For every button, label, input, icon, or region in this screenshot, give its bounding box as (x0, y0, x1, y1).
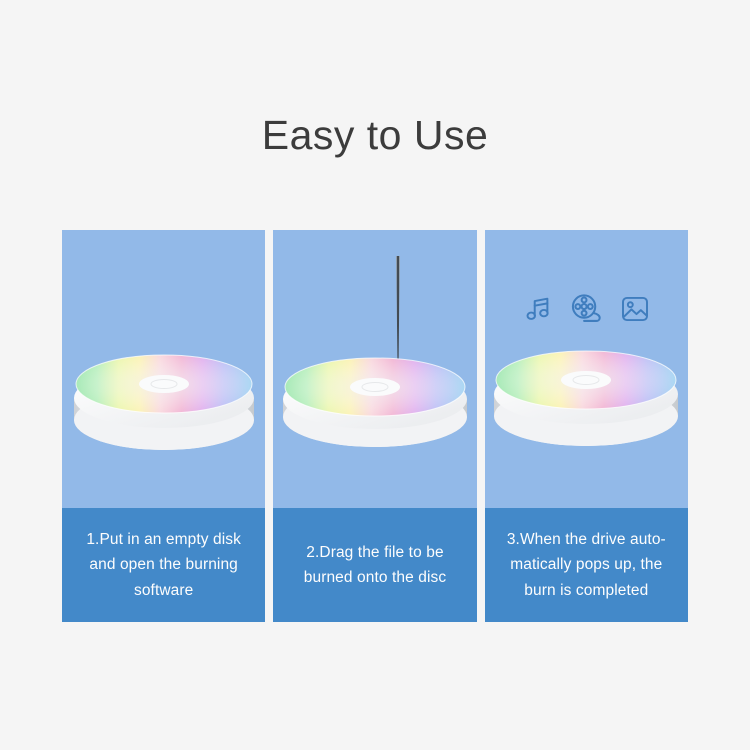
step-panel-2: 2.Drag the file to be burned onto the di… (273, 230, 476, 622)
step-2-caption-text: 2.Drag the file to be burned onto the di… (304, 540, 446, 590)
cd-disc-2 (278, 343, 472, 451)
step-1-caption: 1.Put in an empty disk and open the burn… (62, 508, 265, 622)
step-3-caption-text: 3.When the drive auto- matically pops up… (507, 527, 666, 602)
music-note-icon (523, 294, 553, 324)
step-1-caption-text: 1.Put in an empty disk and open the burn… (86, 527, 241, 602)
cd-disc-1 (69, 336, 259, 448)
cd-disc-3 (489, 334, 683, 448)
steps-panel-group: 1.Put in an empty disk and open the burn… (62, 230, 688, 622)
step-1-illustration (62, 230, 265, 508)
page-title: Easy to Use (0, 113, 750, 158)
step-panel-1: 1.Put in an empty disk and open the burn… (62, 230, 265, 622)
media-type-icon-row (485, 292, 688, 325)
step-3-illustration (485, 230, 688, 508)
image-icon (620, 294, 650, 324)
step-2-illustration (273, 230, 476, 508)
step-panel-3: 3.When the drive auto- matically pops up… (485, 230, 688, 622)
film-reel-icon (570, 292, 603, 325)
step-2-caption: 2.Drag the file to be burned onto the di… (273, 508, 476, 622)
step-3-caption: 3.When the drive auto- matically pops up… (485, 508, 688, 622)
